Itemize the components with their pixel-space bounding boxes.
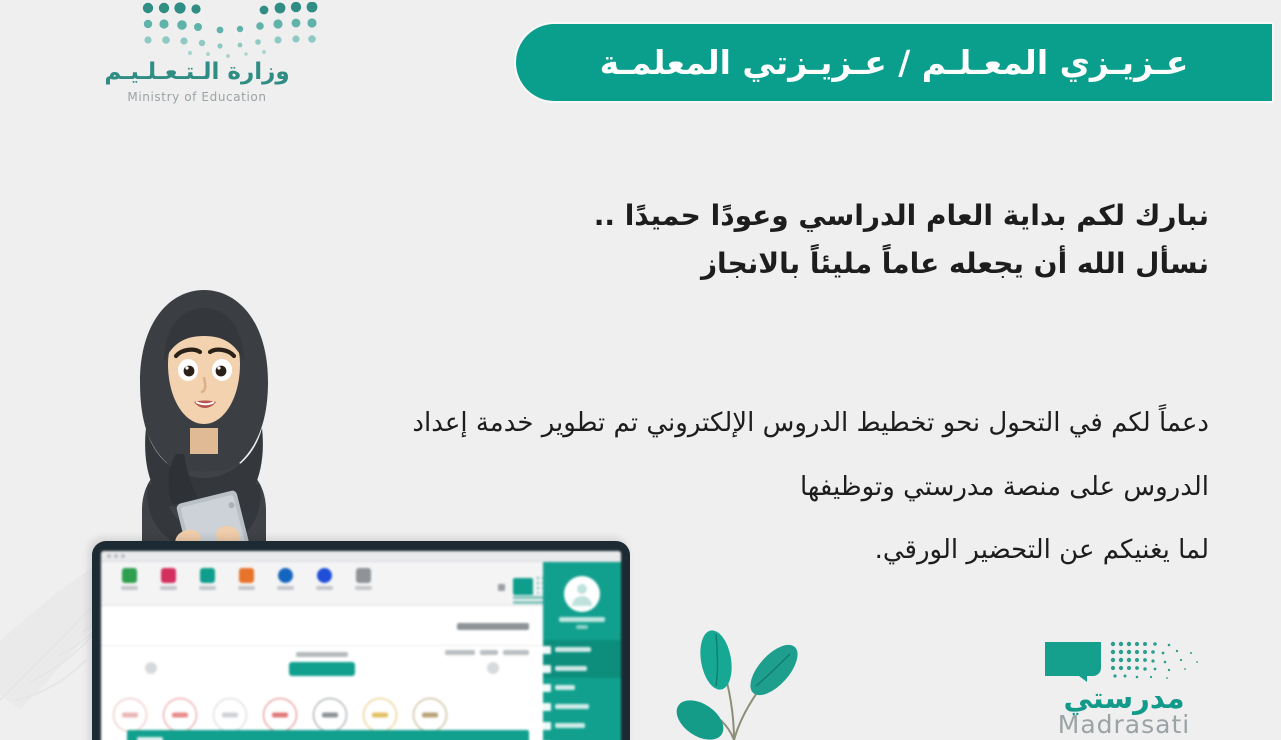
- day-circle[interactable]: [363, 698, 397, 732]
- day-circle[interactable]: [313, 698, 347, 732]
- sidebar-item-lesson-planning[interactable]: [543, 640, 621, 659]
- chart-icon: [543, 722, 551, 730]
- browser-titlebar: [101, 551, 621, 562]
- chevron-right-icon[interactable]: [487, 662, 499, 674]
- greeting-block: نبارك لكم بداية العام الدراسي وعودًا حمي…: [569, 192, 1209, 288]
- bookmark-item[interactable]: [238, 568, 255, 590]
- bookmark-icon: [161, 568, 176, 583]
- teacher-character-illustration: [96, 278, 311, 578]
- bookmark-item[interactable]: [355, 568, 372, 590]
- sidebar-item-settings[interactable]: [543, 735, 621, 740]
- clipboard-icon: [543, 684, 551, 692]
- check-icon: [543, 703, 551, 711]
- ministry-logo-english: Ministry of Education: [62, 90, 332, 104]
- user-role-label: [576, 625, 588, 629]
- bookmark-icon: [317, 568, 332, 583]
- greeting-banner-text: عـزيـزي المعـلـم / عـزيـزتي المعلمـة: [600, 43, 1189, 82]
- saudi-vision-dots-icon: [140, 2, 320, 60]
- bookmark-icon: [239, 568, 254, 583]
- announcement-poster: وزارة الـتـعـلـيـم Ministry of Education…: [0, 0, 1281, 740]
- sidebar-item-attendance[interactable]: [543, 697, 621, 716]
- bookmark-item[interactable]: [160, 568, 177, 590]
- greeting-line-1: نبارك لكم بداية العام الدراسي وعودًا حمي…: [569, 192, 1209, 240]
- user-name-label: [559, 617, 605, 622]
- sidebar-item-my-lessons[interactable]: [543, 659, 621, 678]
- book-icon: [543, 665, 551, 673]
- potted-plant-decoration: [672, 624, 842, 740]
- action-bar[interactable]: [127, 730, 529, 740]
- sidebar-menu[interactable]: [543, 640, 621, 740]
- window-controls[interactable]: [107, 554, 125, 558]
- page-title: [457, 623, 529, 630]
- madrasati-platform-logo: مدرستي Madrasati: [1019, 638, 1229, 738]
- body-line-2: الدروس على منصة مدرستي وتوظيفها: [209, 456, 1209, 520]
- bookmark-row[interactable]: [121, 568, 372, 590]
- bookmark-icon: [200, 568, 215, 583]
- week-navigator[interactable]: [101, 646, 543, 692]
- avatar[interactable]: [564, 576, 600, 612]
- day-circle[interactable]: [163, 698, 197, 732]
- greeting-banner: عـزيـزي المعـلـم / عـزيـزتي المعلمـة: [516, 24, 1272, 101]
- bookmark-icon: [278, 568, 293, 583]
- ministry-logo-arabic: وزارة الـتـعـلـيـم: [62, 60, 332, 85]
- calendar-icon: [543, 646, 551, 654]
- greeting-line-2: نسأل الله أن يجعله عاماً مليئاً بالانجاز: [569, 240, 1209, 288]
- bookmark-icon: [356, 568, 371, 583]
- sidebar-item-assignments[interactable]: [543, 678, 621, 697]
- sidebar-item-reports[interactable]: [543, 716, 621, 735]
- dashboard-main: [101, 606, 543, 740]
- day-circle[interactable]: [213, 698, 247, 732]
- chevron-left-icon[interactable]: [145, 662, 157, 674]
- menu-icon[interactable]: [498, 584, 505, 591]
- day-circle[interactable]: [263, 698, 297, 732]
- bookmark-item[interactable]: [121, 568, 138, 590]
- bookmark-item[interactable]: [316, 568, 333, 590]
- ministry-of-education-logo: وزارة الـتـعـلـيـم Ministry of Education: [62, 2, 332, 127]
- bookmark-item[interactable]: [199, 568, 216, 590]
- add-lesson-button[interactable]: [289, 662, 355, 676]
- madrasati-logo-english: Madrasati: [1019, 712, 1229, 737]
- page-header: [101, 606, 543, 646]
- day-circle[interactable]: [413, 698, 447, 732]
- madrasati-logo-arabic: مدرستي: [1019, 684, 1229, 713]
- madrasati-flag-dots-icon: [1043, 638, 1213, 684]
- bookmark-item[interactable]: [277, 568, 294, 590]
- bookmark-icon: [122, 568, 137, 583]
- monitor-screen: [101, 551, 621, 740]
- day-circle[interactable]: [113, 698, 147, 732]
- desktop-monitor-illustration: [92, 541, 630, 740]
- dashboard-sidebar[interactable]: [543, 562, 621, 740]
- madrasati-flag-icon: [513, 578, 533, 595]
- week-label: [296, 652, 348, 657]
- body-line-1: دعماً لكم في التحول نحو تخطيط الدروس الإ…: [209, 392, 1209, 456]
